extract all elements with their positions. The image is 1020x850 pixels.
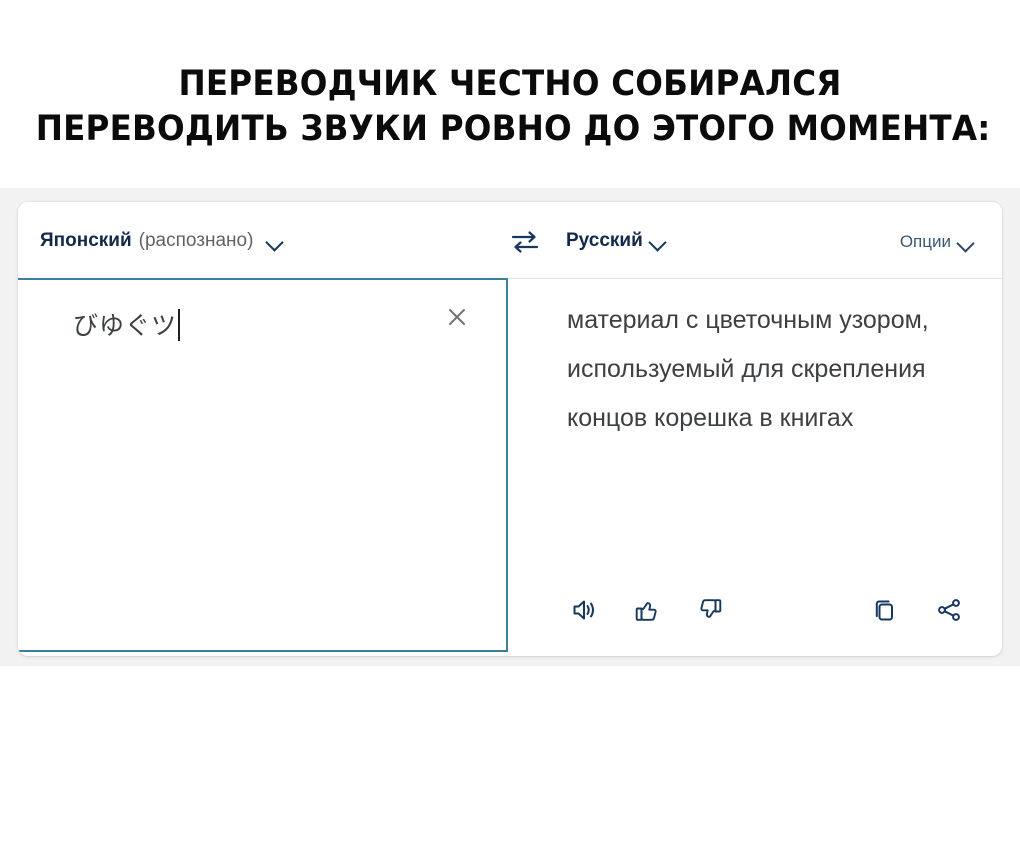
source-text-value: びゆぐツ	[73, 311, 177, 340]
caption-line-2: ПЕРЕВОДИТЬ ЗВУКИ РОВНО ДО ЭТОГО МОМЕНТА:	[36, 107, 985, 152]
swap-languages-icon	[510, 229, 540, 255]
translated-text: материал с цветочным узором, используемы…	[567, 296, 987, 443]
listen-icon	[570, 595, 600, 625]
meme-page: ПЕРЕВОДЧИК ЧЕСТНО СОБИРАЛСЯ ПЕРЕВОДИТЬ З…	[0, 0, 1020, 850]
target-text-area: материал с цветочным узором, используемы…	[515, 278, 1002, 656]
options-menu[interactable]: Опции	[900, 232, 974, 252]
thumbs-up-button[interactable]	[629, 592, 665, 628]
target-language-label: Русский	[566, 230, 643, 252]
translator-body: びゆぐツ материал с цветочным узором, исполь…	[18, 278, 1002, 656]
copy-icon	[870, 595, 900, 625]
copy-button[interactable]	[867, 592, 903, 628]
thumbs-down-button[interactable]	[692, 592, 728, 628]
clear-source-button[interactable]	[444, 304, 470, 330]
target-language-selector[interactable]: Русский	[566, 230, 666, 252]
thumbs-down-icon	[695, 595, 725, 625]
share-button[interactable]	[931, 592, 967, 628]
translation-actions	[567, 592, 987, 628]
caption-line-1: ПЕРЕВОДЧИК ЧЕСТНО СОБИРАЛСЯ	[36, 62, 985, 107]
options-label: Опции	[900, 232, 951, 252]
source-text: びゆぐツ	[73, 306, 180, 342]
source-language-label: Японский	[40, 230, 132, 252]
swap-languages-button[interactable]	[510, 229, 540, 255]
listen-button[interactable]	[567, 592, 603, 628]
chevron-down-icon	[957, 234, 974, 251]
chevron-down-icon	[266, 233, 283, 250]
source-language-selector[interactable]: Японский (распознано)	[40, 230, 283, 252]
source-text-area[interactable]: びゆぐツ	[18, 278, 508, 652]
share-icon	[934, 595, 964, 625]
chevron-down-icon	[649, 233, 666, 250]
source-detected-note: (распознано)	[139, 230, 254, 252]
close-icon	[444, 304, 470, 330]
translator-card: Японский (распознано) Русский Опции	[18, 202, 1002, 656]
text-caret	[178, 309, 180, 341]
translator-header: Японский (распознано) Русский Опции	[18, 202, 1002, 278]
thumbs-up-icon	[632, 595, 662, 625]
meme-caption: ПЕРЕВОДЧИК ЧЕСТНО СОБИРАЛСЯ ПЕРЕВОДИТЬ З…	[36, 62, 985, 152]
